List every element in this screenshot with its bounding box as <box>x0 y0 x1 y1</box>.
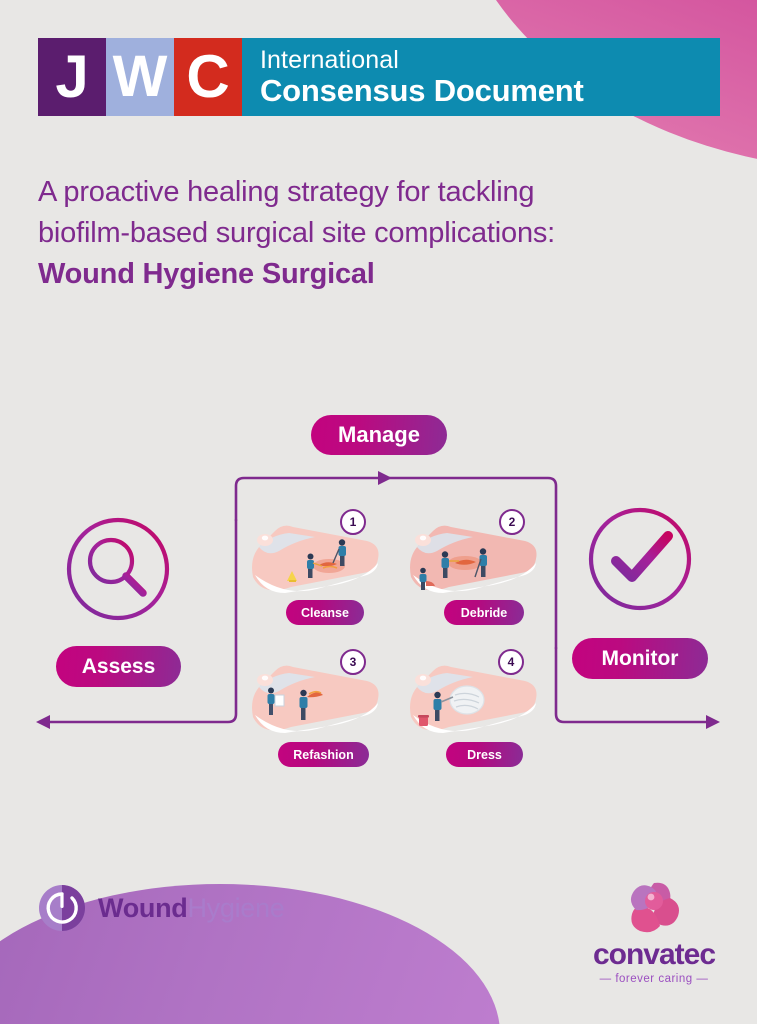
jwc-logo-letter-w: W <box>106 38 174 116</box>
magnifier-icon <box>64 515 172 623</box>
manage-pill[interactable]: Manage <box>311 415 447 455</box>
masthead-text: International Consensus Document <box>242 38 720 116</box>
title-line-1: A proactive healing strategy for tacklin… <box>38 172 708 213</box>
title-line-3: Wound Hygiene Surgical <box>38 254 708 295</box>
wordmark-hygiene: Hygiene <box>187 893 284 923</box>
jwc-logo-letter-c: C <box>174 38 242 116</box>
wordmark-wound: Wound <box>98 893 187 923</box>
masthead-line-consensus-document: Consensus Document <box>260 74 720 108</box>
jwc-masthead: J W C International Consensus Document <box>38 38 720 116</box>
wound-hygiene-logo: WoundHygiene <box>38 884 284 932</box>
masthead-line-international: International <box>260 47 720 73</box>
step-badge-3: 3 <box>340 649 366 675</box>
document-cover: J W C International Consensus Document A… <box>0 0 757 1024</box>
page-title: A proactive healing strategy for tacklin… <box>38 172 708 295</box>
step-badge-4: 4 <box>498 649 524 675</box>
convatec-wordmark: convatec <box>574 940 734 970</box>
assess-pill[interactable]: Assess <box>56 646 181 687</box>
step-pill-refashion[interactable]: Refashion <box>278 742 369 767</box>
jwc-logo-letter-j: J <box>38 38 106 116</box>
check-icon <box>586 505 694 613</box>
wound-hygiene-cycle-diagram: Manage Assess Monitor <box>0 400 757 800</box>
convatec-tagline: — forever caring — <box>574 973 734 985</box>
wound-hygiene-wordmark: WoundHygiene <box>98 893 284 924</box>
title-line-2: biofilm-based surgical site complication… <box>38 213 708 254</box>
wound-hygiene-circle-icon <box>38 884 86 932</box>
monitor-pill[interactable]: Monitor <box>572 638 708 679</box>
step-badge-2: 2 <box>499 509 525 535</box>
step-pill-cleanse[interactable]: Cleanse <box>286 600 364 625</box>
convatec-flower-icon <box>624 880 684 936</box>
step-pill-debride[interactable]: Debride <box>444 600 524 625</box>
convatec-logo: convatec — forever caring — <box>574 880 734 985</box>
step-pill-dress[interactable]: Dress <box>446 742 523 767</box>
step-badge-1: 1 <box>340 509 366 535</box>
